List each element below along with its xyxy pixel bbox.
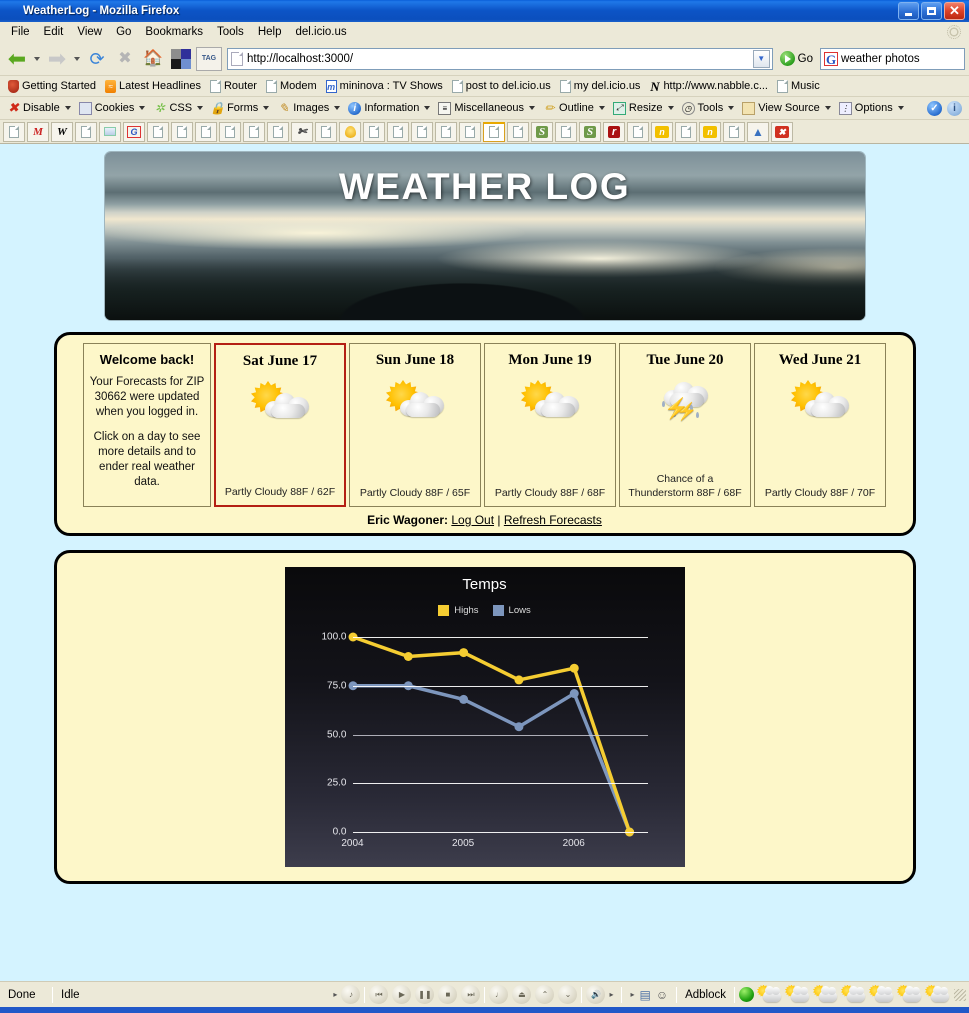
chart-title: Temps — [285, 576, 685, 593]
pause-icon[interactable]: ❚❚ — [415, 985, 434, 1004]
chart-wrapper: Temps Highs Lows 0.025.050.075.010 — [67, 567, 903, 867]
menu-help[interactable]: Help — [251, 24, 289, 40]
adblock-label[interactable]: Adblock — [677, 982, 734, 1007]
weather-icon[interactable] — [840, 985, 866, 1005]
chart-data-point — [459, 648, 468, 657]
music-note-icon[interactable]: ♩ — [489, 985, 508, 1004]
bookmark-mininova[interactable]: mmininova : TV Shows — [322, 79, 447, 94]
netvibes-icon[interactable]: n — [651, 122, 673, 142]
bookmark-label: Router — [224, 80, 257, 92]
wd-disable[interactable]: ✖Disable — [3, 101, 75, 116]
page-icon[interactable] — [435, 122, 457, 142]
menu-file[interactable]: File — [4, 24, 37, 40]
chart-data-point — [514, 722, 523, 731]
chart-data-point — [569, 664, 578, 673]
tag-icon[interactable]: TAG — [196, 47, 222, 71]
next-icon[interactable]: ⏭ — [461, 985, 480, 1004]
chevron-down-icon — [334, 106, 340, 110]
chart-y-tick-label: 50.0 — [327, 729, 346, 740]
status-extras: ▸ ▤ ☺ — [622, 982, 676, 1007]
forecast-day: Sat June 17 — [243, 353, 317, 370]
down-icon[interactable]: ⌄ — [558, 985, 577, 1004]
page-icon-selected[interactable] — [483, 122, 505, 142]
menu-bar: File Edit View Go Bookmarks Tools Help d… — [0, 22, 969, 42]
window-controls: ✕ — [898, 2, 965, 20]
stumbleupon-icon[interactable]: S — [579, 122, 601, 142]
clipboard-icon — [742, 102, 755, 115]
chart-gridline — [353, 832, 648, 833]
chart-x-tick-label: 2004 — [341, 838, 363, 849]
status-text: Done — [0, 982, 52, 1007]
page-icon — [777, 80, 788, 93]
chevron-down-icon — [529, 106, 535, 110]
tag-label: TAG — [202, 55, 216, 62]
search-engine-letter: G — [826, 52, 836, 67]
temps-chart: Temps Highs Lows 0.025.050.075.010 — [285, 567, 685, 867]
navigation-toolbar: ⬅ ➡ ⟳ ✖ 🏠 TAG http://localhost:3000/ ▼ G… — [0, 42, 969, 76]
stumbleupon-icon[interactable]: S — [531, 122, 553, 142]
forecast-card-sun-june-18[interactable]: Sun June 18 Partly Cloudy 88F / 65F — [349, 343, 481, 507]
wd-resize[interactable]: ⤢Resize — [609, 101, 678, 116]
info-circle-icon[interactable]: i — [947, 101, 962, 116]
chart-data-point — [514, 675, 523, 684]
resize-grip[interactable] — [954, 989, 966, 1001]
more-icon[interactable]: ▸ — [609, 990, 613, 999]
lock-icon: 🔒 — [211, 102, 224, 115]
weather-icon[interactable] — [756, 985, 782, 1005]
forecast-condition: Chance of a Thunderstorm 88F / 68F — [625, 468, 745, 500]
wd-label: Forms — [227, 102, 258, 114]
chart-x-tick-label: 2006 — [563, 838, 585, 849]
page-icon — [266, 80, 277, 93]
page-icon — [560, 80, 571, 93]
cookie-icon — [79, 102, 92, 115]
partly-cloudy-icon — [789, 379, 851, 427]
user-name: Eric Wagoner: — [367, 513, 448, 527]
go-label: Go — [798, 53, 813, 65]
forecast-condition: Partly Cloudy 88F / 62F — [225, 481, 335, 499]
chart-data-point — [569, 689, 578, 698]
wd-label: Information — [364, 102, 419, 114]
mininova-icon: m — [326, 80, 337, 93]
forecast-card-mon-june-19[interactable]: Mon June 19 Partly Cloudy 88F / 68F — [484, 343, 616, 507]
page-icon[interactable] — [411, 122, 433, 142]
wd-label: Resize — [629, 102, 663, 114]
nabble-icon: N — [649, 80, 660, 93]
bookmark-router[interactable]: Router — [206, 79, 261, 94]
go-icon — [780, 51, 795, 66]
chart-x-tick-label: 2005 — [452, 838, 474, 849]
bookmark-post-to-delicious[interactable]: post to del.icio.us — [448, 79, 555, 94]
clock-icon: ◷ — [682, 102, 695, 115]
banner-light-ray — [105, 216, 525, 250]
window-title: WeatherLog - Mozilla Firefox — [23, 5, 898, 17]
chart-gridline — [353, 735, 648, 736]
menu-delicious[interactable]: del.icio.us — [288, 24, 353, 40]
throbber-icon — [947, 25, 961, 39]
forecast-card-sat-june-17[interactable]: Sat June 17 Partly Cloudy 88F / 62F — [214, 343, 346, 507]
close-button[interactable]: ✕ — [944, 2, 965, 20]
weather-icon[interactable] — [812, 985, 838, 1005]
chart-gridline — [353, 686, 648, 687]
url-dropdown-chevron-down-icon[interactable]: ▼ — [753, 50, 770, 68]
link-separator: | — [497, 513, 500, 527]
chevron-down-icon — [424, 106, 430, 110]
maximize-button[interactable] — [921, 2, 942, 20]
more-icon[interactable]: ▸ — [630, 990, 634, 999]
bookmark-my-delicious[interactable]: my del.icio.us — [556, 79, 645, 94]
chevron-down-icon — [728, 106, 734, 110]
menu-view[interactable]: View — [70, 24, 109, 40]
wd-miscellaneous[interactable]: ≡Miscellaneous — [434, 101, 539, 116]
page-icon[interactable] — [675, 122, 697, 142]
bookmark-label: Music — [791, 80, 820, 92]
wikipedia-icon[interactable]: W — [51, 122, 73, 142]
chart-y-tick-label: 0.0 — [333, 827, 347, 838]
wd-label: Cookies — [95, 102, 135, 114]
page-icon[interactable] — [267, 122, 289, 142]
page-icon[interactable] — [195, 122, 217, 142]
page-icon[interactable] — [459, 122, 481, 142]
chevron-down-icon — [668, 106, 674, 110]
page-icon[interactable] — [171, 122, 193, 142]
rss-icon: ≈ — [105, 80, 116, 93]
page-icon[interactable] — [219, 122, 241, 142]
chart-y-tick-label: 75.0 — [327, 680, 346, 691]
banner-mountain — [105, 258, 865, 320]
page-title: WEATHER LOG — [105, 166, 865, 208]
up-icon[interactable]: ⌃ — [535, 985, 554, 1004]
wd-tools[interactable]: ◷Tools — [678, 101, 739, 116]
chart-gridline — [353, 637, 648, 638]
bookmark-label: Getting Started — [22, 80, 96, 92]
bookmark-getting-started[interactable]: Getting Started — [4, 79, 100, 94]
wd-label: View Source — [758, 102, 820, 114]
menu-go[interactable]: Go — [109, 24, 138, 40]
bookmarks-toolbar: Getting Started ≈Latest Headlines Router… — [0, 76, 969, 97]
google-search-icon[interactable]: G — [824, 52, 838, 66]
chart-plot-area: 0.025.050.075.0100.0200420052006 — [353, 637, 648, 832]
wd-label: Options — [855, 102, 893, 114]
browser-window: WeatherLog - Mozilla Firefox ✕ File Edit… — [0, 0, 969, 1013]
search-input[interactable]: G weather photos — [820, 48, 965, 70]
forecast-panel: Welcome back! Your Forecasts for ZIP 306… — [54, 332, 916, 536]
bookmark-label: Latest Headlines — [119, 80, 201, 92]
list-icon: ≡ — [438, 102, 451, 115]
forecast-condition: Partly Cloudy 88F / 65F — [360, 482, 470, 500]
menu-edit[interactable]: Edit — [37, 24, 71, 40]
thunderstorm-icon: ⚡⚡ — [654, 379, 716, 427]
legend-item-highs: Highs — [438, 605, 478, 616]
pencil-icon: ✏ — [543, 102, 556, 115]
chart-data-point — [459, 695, 468, 704]
page-banner: WEATHER LOG — [105, 152, 865, 320]
bookmark-label: post to del.icio.us — [466, 80, 551, 92]
info-icon: i — [348, 102, 361, 115]
netvibes-icon[interactable]: n — [699, 122, 721, 142]
scissors-icon[interactable]: ✄ — [291, 122, 313, 142]
wd-label: Tools — [698, 102, 724, 114]
page-icon[interactable] — [243, 122, 265, 142]
forecast-card-wed-june-21[interactable]: Wed June 21 Partly Cloudy 88F / 70F — [754, 343, 886, 507]
chevron-down-icon — [65, 106, 71, 110]
chart-gridline — [353, 783, 648, 784]
web-developer-toolbar: ✖Disable Cookies ✲CSS 🔒Forms ✎Images iIn… — [0, 97, 969, 120]
firefox-icon — [4, 4, 19, 19]
page-icon[interactable] — [627, 122, 649, 142]
play-icon[interactable]: ▶ — [392, 985, 411, 1004]
extension-toolbar: M W G ✄ S S r n n ▲ ✖ — [0, 120, 969, 144]
page-icon[interactable] — [315, 122, 337, 142]
log-out-link[interactable]: Log Out — [451, 513, 494, 527]
wd-label: Disable — [23, 102, 60, 114]
menu-bookmarks[interactable]: Bookmarks — [138, 24, 210, 40]
page-icon[interactable] — [555, 122, 577, 142]
wd-cookies[interactable]: Cookies — [75, 101, 150, 116]
validate-check-icon[interactable]: ✓ — [927, 101, 942, 116]
wd-options[interactable]: ⋮Options — [835, 101, 908, 116]
legend-swatch-lows — [493, 605, 504, 616]
volume-icon[interactable]: 🔊 — [586, 985, 605, 1004]
forecast-day: Wed June 21 — [779, 352, 862, 369]
wd-forms[interactable]: 🔒Forms — [207, 101, 273, 116]
resize-icon: ⤢ — [613, 102, 626, 115]
media-controls: ▸ ♪ ⏮ ▶ ❚❚ ■ ⏭ ♩ ⏏ ⌃ ⌄ 🔊 ▸ — [325, 982, 621, 1007]
page-icon[interactable] — [363, 122, 385, 142]
chart-y-tick-label: 25.0 — [327, 778, 346, 789]
wd-view-source[interactable]: View Source — [738, 101, 835, 116]
mountain-icon[interactable]: ▲ — [747, 122, 769, 142]
wd-label: Images — [293, 102, 329, 114]
face-icon[interactable]: ☺ — [656, 988, 668, 1002]
page-icon — [231, 52, 243, 66]
wd-label: Outline — [559, 102, 594, 114]
media-state-text: Idle — [53, 982, 88, 1007]
stop-icon[interactable]: ■ — [438, 985, 457, 1004]
forecast-condition: Partly Cloudy 88F / 70F — [765, 482, 875, 500]
chart-legend: Highs Lows — [285, 605, 685, 616]
rojo-icon[interactable]: r — [603, 122, 625, 142]
red-x-icon: ✖ — [7, 102, 20, 115]
weather-icon[interactable] — [896, 985, 922, 1005]
bookmark-label: my del.icio.us — [574, 80, 641, 92]
welcome-heading: Welcome back! — [100, 352, 194, 367]
chevron-down-icon — [263, 106, 269, 110]
wd-css[interactable]: ✲CSS — [149, 101, 207, 116]
chevron-down-icon — [139, 106, 145, 110]
bookmark-label: mininova : TV Shows — [340, 80, 443, 92]
page-icon — [452, 80, 463, 93]
legend-swatch-highs — [438, 605, 449, 616]
bookmark-modem[interactable]: Modem — [262, 79, 321, 94]
forecast-day: Mon June 19 — [508, 352, 591, 369]
firefox-bookmark-icon — [8, 80, 19, 93]
wd-right-icons: ✓ i — [927, 101, 966, 116]
chevron-down-icon — [197, 106, 203, 110]
forecast-cards: Welcome back! Your Forecasts for ZIP 306… — [67, 343, 903, 507]
forecast-day: Tue June 20 — [647, 352, 724, 369]
menu-tools[interactable]: Tools — [210, 24, 251, 40]
windows-icon[interactable]: ▤ — [639, 988, 650, 1002]
status-bar: Done Idle ▸ ♪ ⏮ ▶ ❚❚ ■ ⏭ ♩ ⏏ ⌃ ⌄ 🔊 ▸ ▸ ▤… — [0, 981, 969, 1007]
green-orb-icon[interactable] — [739, 987, 754, 1002]
google-icon[interactable]: G — [123, 122, 145, 142]
status-tray — [735, 982, 954, 1007]
weather-icon[interactable] — [784, 985, 810, 1005]
add-page-icon[interactable] — [3, 122, 25, 142]
note-icon[interactable]: ♪ — [341, 985, 360, 1004]
page-icon[interactable] — [507, 122, 529, 142]
legend-item-lows: Lows — [493, 605, 531, 616]
puzzle-icon: ✲ — [153, 102, 166, 115]
chevron-down-icon — [825, 106, 831, 110]
bookmark-label: Modem — [280, 80, 317, 92]
wd-images[interactable]: ✎Images — [273, 101, 344, 116]
expand-icon[interactable]: ▸ — [333, 990, 337, 999]
options-icon: ⋮ — [839, 102, 852, 115]
search-value[interactable]: weather photos — [841, 53, 920, 65]
forecast-day: Sun June 18 — [376, 352, 454, 369]
home-icon[interactable]: 🏠 — [140, 46, 166, 72]
url-bar[interactable]: http://localhost:3000/ ▼ — [227, 48, 773, 70]
page-icon[interactable] — [387, 122, 409, 142]
page-icon[interactable] — [147, 122, 169, 142]
quadrant-icon[interactable] — [168, 46, 194, 72]
legend-label-lows: Lows — [509, 605, 531, 616]
stop-icon[interactable]: ✖ — [112, 46, 138, 72]
wd-outline[interactable]: ✏Outline — [539, 101, 609, 116]
page-icon[interactable] — [75, 122, 97, 142]
forward-history-chevron-down-icon[interactable] — [74, 57, 80, 61]
wd-label: CSS — [169, 102, 192, 114]
shield-icon[interactable] — [339, 122, 361, 142]
wd-label: Miscellaneous — [454, 102, 524, 114]
weather-icon[interactable] — [868, 985, 894, 1005]
chevron-down-icon — [898, 106, 904, 110]
chart-data-point — [403, 652, 412, 661]
eject-icon[interactable]: ⏏ — [512, 985, 531, 1004]
bookmark-label: http://www.nabble.c... — [663, 80, 768, 92]
welcome-paragraph-1: Your Forecasts for ZIP 30662 were update… — [89, 375, 205, 420]
refresh-forecasts-link[interactable]: Refresh Forecasts — [504, 513, 602, 527]
bookmark-nabble[interactable]: Nhttp://www.nabble.c... — [645, 79, 772, 94]
welcome-paragraph-2: Click on a day to see more details and t… — [89, 430, 205, 490]
user-line: Eric Wagoner: Log Out | Refresh Forecast… — [67, 513, 903, 527]
chart-panel: Temps Highs Lows 0.025.050.075.010 — [54, 550, 916, 884]
page-icon — [210, 80, 221, 93]
chart-y-tick-label: 100.0 — [321, 632, 346, 643]
go-button[interactable]: Go — [780, 51, 813, 66]
bookmark-music[interactable]: Music — [773, 79, 824, 94]
gmail-icon[interactable]: M — [27, 122, 49, 142]
partly-cloudy-icon — [249, 380, 311, 428]
red-close-icon[interactable]: ✖ — [771, 122, 793, 142]
partly-cloudy-icon — [384, 379, 446, 427]
back-history-chevron-down-icon[interactable] — [34, 57, 40, 61]
back-icon[interactable]: ⬅ — [4, 46, 30, 72]
forward-icon[interactable]: ➡ — [44, 46, 70, 72]
forecast-condition: Partly Cloudy 88F / 68F — [495, 482, 605, 500]
reload-icon[interactable]: ⟳ — [84, 46, 110, 72]
page-icon[interactable] — [723, 122, 745, 142]
forecast-card-tue-june-20[interactable]: Tue June 20 ⚡⚡ Chance of a Thunderstorm … — [619, 343, 751, 507]
images-icon: ✎ — [277, 102, 290, 115]
title-bar: WeatherLog - Mozilla Firefox ✕ — [0, 0, 969, 22]
chevron-down-icon — [599, 106, 605, 110]
page-content: WEATHER LOG Welcome back! Your Forecasts… — [0, 144, 969, 981]
prev-icon[interactable]: ⏮ — [369, 985, 388, 1004]
envelope-icon[interactable] — [99, 122, 121, 142]
url-text[interactable]: http://localhost:3000/ — [247, 53, 753, 65]
wd-information[interactable]: iInformation — [344, 101, 434, 116]
minimize-button[interactable] — [898, 2, 919, 20]
taskbar-strip — [0, 1007, 969, 1013]
partly-cloudy-icon — [519, 379, 581, 427]
legend-label-highs: Highs — [454, 605, 478, 616]
welcome-card: Welcome back! Your Forecasts for ZIP 306… — [83, 343, 211, 507]
weather-icon[interactable] — [924, 985, 950, 1005]
bookmark-latest-headlines[interactable]: ≈Latest Headlines — [101, 79, 205, 94]
